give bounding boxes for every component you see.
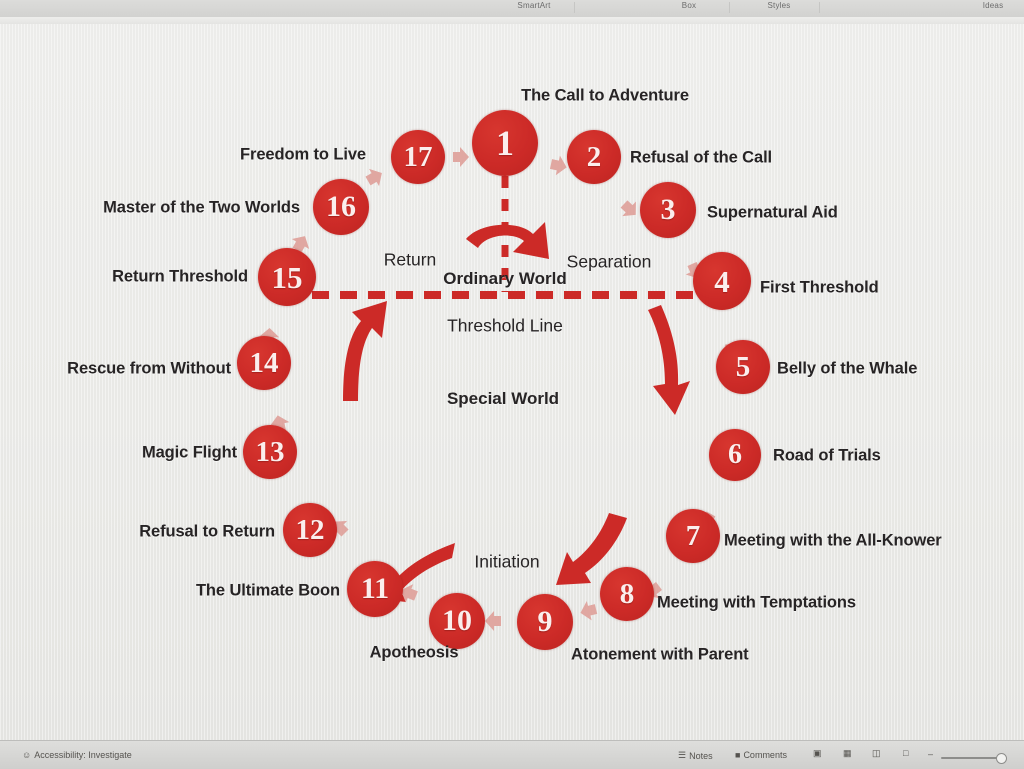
notes-button[interactable]: ☰ Notes bbox=[678, 750, 713, 761]
ribbon-separator bbox=[819, 2, 820, 13]
view-reading-button[interactable]: ◫ bbox=[872, 748, 881, 759]
step-node-11[interactable]: 11 bbox=[347, 561, 403, 617]
step-label-9: Atonement with Parent bbox=[571, 646, 749, 665]
view-sorter-button[interactable]: ▦ bbox=[843, 748, 852, 759]
step-label-1: The Call to Adventure bbox=[521, 87, 689, 106]
slide-sorter-icon: ▦ bbox=[843, 748, 852, 759]
comments-label: Comments bbox=[743, 750, 787, 760]
comments-button[interactable]: ■ Comments bbox=[735, 750, 787, 760]
step-number: 10 bbox=[442, 606, 472, 636]
step-node-14[interactable]: 14 bbox=[237, 336, 291, 390]
step-number: 6 bbox=[728, 441, 742, 469]
step-number: 4 bbox=[714, 266, 730, 297]
accessibility-icon: ☺ bbox=[22, 750, 31, 760]
slide-canvas[interactable]: 1The Call to Adventure2Refusal of the Ca… bbox=[0, 24, 1024, 740]
step-label-2: Refusal of the Call bbox=[630, 149, 772, 168]
step-node-15[interactable]: 15 bbox=[258, 248, 316, 306]
center-label-separation: Separation bbox=[567, 252, 652, 273]
step-node-3[interactable]: 3 bbox=[640, 182, 696, 238]
step-number: 16 bbox=[326, 192, 356, 222]
step-label-12: Refusal to Return bbox=[139, 523, 275, 542]
reading-view-icon: ◫ bbox=[872, 748, 881, 759]
ribbon-item-box[interactable]: Box bbox=[682, 1, 696, 10]
notes-icon: ☰ bbox=[678, 750, 686, 761]
center-label-initiation: Initiation bbox=[474, 552, 539, 573]
step-label-8: Meeting with Temptations bbox=[657, 594, 856, 613]
accessibility-status[interactable]: ☺ Accessibility: Investigate bbox=[22, 750, 132, 760]
step-node-4[interactable]: 4 bbox=[693, 252, 751, 310]
step-node-9[interactable]: 9 bbox=[517, 594, 573, 650]
comment-icon: ■ bbox=[735, 750, 740, 760]
step-number: 15 bbox=[272, 262, 303, 293]
center-label-ordinary-world: Ordinary World bbox=[443, 269, 566, 289]
zoom-out-button[interactable]: – bbox=[928, 749, 933, 759]
normal-view-icon: ▣ bbox=[813, 748, 822, 759]
step-node-5[interactable]: 5 bbox=[716, 340, 770, 394]
step-node-16[interactable]: 16 bbox=[313, 179, 369, 235]
center-label-special-world: Special World bbox=[447, 389, 559, 409]
step-label-16: Master of the Two Worlds bbox=[103, 199, 300, 218]
step-label-14: Rescue from Without bbox=[67, 360, 231, 379]
ribbon-divider bbox=[0, 17, 1024, 24]
step-label-11: The Ultimate Boon bbox=[196, 582, 340, 601]
step-label-15: Return Threshold bbox=[112, 268, 248, 287]
step-number: 1 bbox=[496, 125, 514, 161]
step-node-17[interactable]: 17 bbox=[391, 130, 445, 184]
step-number: 9 bbox=[538, 607, 553, 637]
zoom-slider-knob[interactable] bbox=[996, 753, 1007, 764]
ribbon-item-styles[interactable]: Styles bbox=[768, 1, 791, 10]
step-number: 8 bbox=[620, 580, 635, 609]
step-node-10[interactable]: 10 bbox=[429, 593, 485, 649]
step-node-1[interactable]: 1 bbox=[472, 110, 538, 176]
step-node-12[interactable]: 12 bbox=[283, 503, 337, 557]
step-number: 11 bbox=[361, 574, 389, 604]
step-node-7[interactable]: 7 bbox=[666, 509, 720, 563]
ribbon-separator bbox=[574, 2, 575, 13]
view-normal-button[interactable]: ▣ bbox=[813, 748, 822, 759]
step-label-13: Magic Flight bbox=[142, 444, 237, 463]
return-arrow bbox=[343, 301, 387, 401]
step-label-17: Freedom to Live bbox=[240, 146, 366, 165]
ribbon-item-ideas[interactable]: Ideas bbox=[983, 1, 1004, 10]
step-label-5: Belly of the Whale bbox=[777, 360, 917, 379]
step-number: 13 bbox=[256, 438, 285, 467]
step-number: 14 bbox=[250, 349, 279, 378]
step-number: 17 bbox=[404, 143, 433, 172]
step-number: 12 bbox=[296, 516, 325, 545]
step-label-6: Road of Trials bbox=[773, 447, 881, 466]
step-number: 7 bbox=[686, 522, 701, 551]
ribbon-item-smartart[interactable]: SmartArt bbox=[517, 1, 550, 10]
step-label-10: Apotheosis bbox=[370, 644, 459, 663]
notes-label: Notes bbox=[689, 751, 713, 761]
step-node-8[interactable]: 8 bbox=[600, 567, 654, 621]
ribbon-bar: SmartArtBoxStylesIdeas bbox=[0, 0, 1024, 18]
step-node-13[interactable]: 13 bbox=[243, 425, 297, 479]
view-slideshow-button[interactable]: □ bbox=[903, 748, 908, 758]
step-number: 5 bbox=[736, 353, 751, 382]
status-bar: ☺ Accessibility: Investigate ☰ Notes ■ C… bbox=[0, 740, 1024, 769]
minus-icon: – bbox=[928, 749, 933, 759]
accessibility-label: Accessibility: Investigate bbox=[34, 750, 132, 760]
step-node-6[interactable]: 6 bbox=[709, 429, 761, 481]
step-node-2[interactable]: 2 bbox=[567, 130, 621, 184]
descent-arrow bbox=[648, 305, 690, 415]
step-label-4: First Threshold bbox=[760, 279, 879, 298]
step-number: 2 bbox=[587, 143, 602, 172]
center-label-return: Return bbox=[384, 250, 437, 271]
ribbon-separator bbox=[729, 2, 730, 13]
zoom-slider-track[interactable] bbox=[941, 757, 1003, 759]
center-label-threshold-line: Threshold Line bbox=[447, 316, 563, 337]
step-number: 3 bbox=[661, 195, 676, 225]
slideshow-icon: □ bbox=[903, 748, 908, 758]
step-label-3: Supernatural Aid bbox=[707, 204, 838, 223]
step-label-7: Meeting with the All-Knower bbox=[724, 532, 942, 551]
